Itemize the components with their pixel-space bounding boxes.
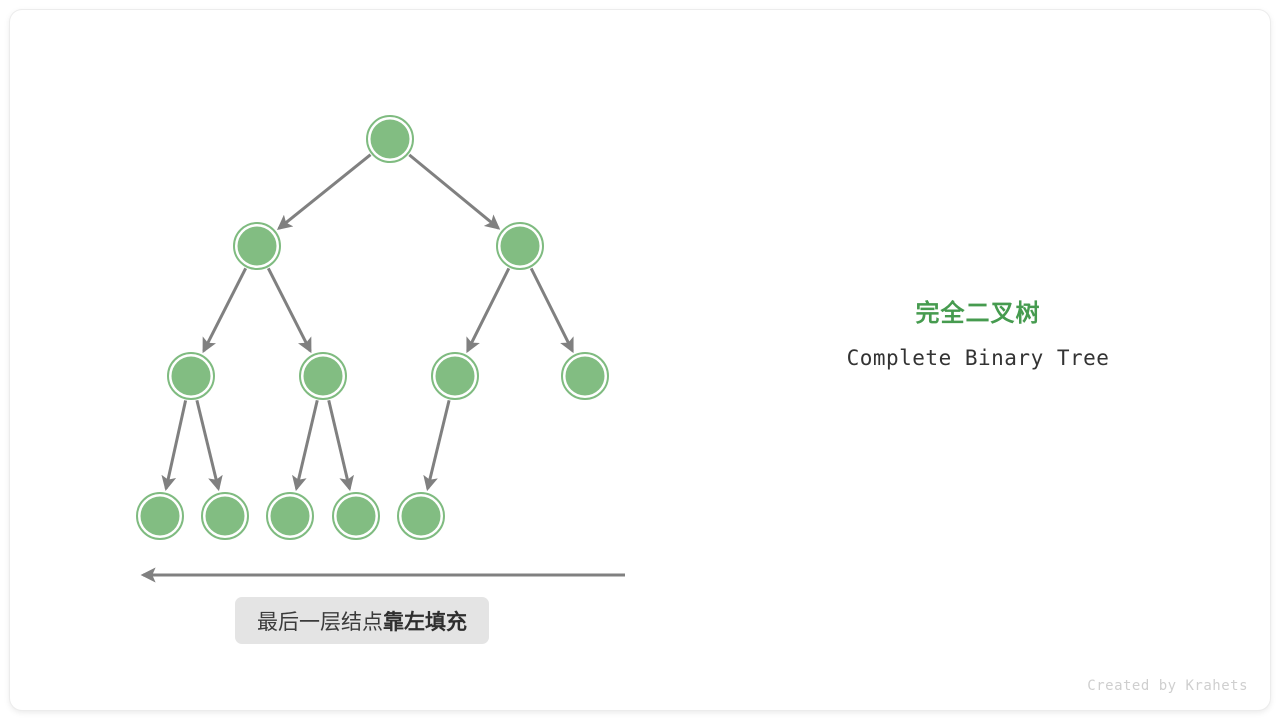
tree-node[interactable]: [300, 353, 346, 399]
tree-node-fill: [566, 357, 605, 396]
tree-edge: [329, 400, 350, 488]
tree-node[interactable]: [398, 493, 444, 539]
caption-emphasis: 靠左填充: [383, 606, 467, 636]
tree-edge: [468, 268, 509, 351]
diagram-card: 完全二叉树 Complete Binary Tree 最后一层结点靠左填充 Cr…: [10, 10, 1270, 710]
tree-node-layer: [137, 116, 608, 539]
title-block: 完全二叉树 Complete Binary Tree: [768, 298, 1188, 370]
credit-label: Created by Krahets: [1087, 678, 1248, 694]
tree-edge: [409, 155, 498, 228]
tree-edge: [279, 155, 371, 229]
tree-node[interactable]: [367, 116, 413, 162]
tree-node[interactable]: [234, 223, 280, 269]
page-title-en: Complete Binary Tree: [768, 346, 1188, 370]
tree-edge: [268, 268, 310, 351]
tree-edge: [166, 400, 186, 488]
tree-node-fill: [141, 497, 180, 536]
tree-node[interactable]: [168, 353, 214, 399]
tree-node-fill: [402, 497, 441, 536]
tree-node[interactable]: [432, 353, 478, 399]
tree-node-fill: [371, 120, 410, 159]
tree-node-fill: [172, 357, 211, 396]
page-title-cn: 完全二叉树: [768, 298, 1188, 330]
caption-pill: 最后一层结点靠左填充: [235, 597, 489, 644]
tree-edge: [296, 400, 317, 488]
tree-node[interactable]: [267, 493, 313, 539]
tree-node[interactable]: [333, 493, 379, 539]
tree-node[interactable]: [137, 493, 183, 539]
tree-edge-layer: [166, 155, 572, 489]
tree-node-fill: [206, 497, 245, 536]
tree-node-fill: [501, 227, 540, 266]
tree-node[interactable]: [202, 493, 248, 539]
tree-node-fill: [337, 497, 376, 536]
tree-edge: [531, 268, 572, 351]
tree-node[interactable]: [562, 353, 608, 399]
tree-node-fill: [436, 357, 475, 396]
tree-node-fill: [304, 357, 343, 396]
tree-edge: [428, 400, 449, 488]
tree-edge: [204, 268, 246, 351]
tree-node-fill: [271, 497, 310, 536]
tree-node[interactable]: [497, 223, 543, 269]
tree-edge: [197, 400, 218, 488]
diagram-stage: 完全二叉树 Complete Binary Tree 最后一层结点靠左填充 Cr…: [10, 10, 1270, 710]
tree-node-fill: [238, 227, 277, 266]
caption-prefix: 最后一层结点: [257, 606, 383, 636]
